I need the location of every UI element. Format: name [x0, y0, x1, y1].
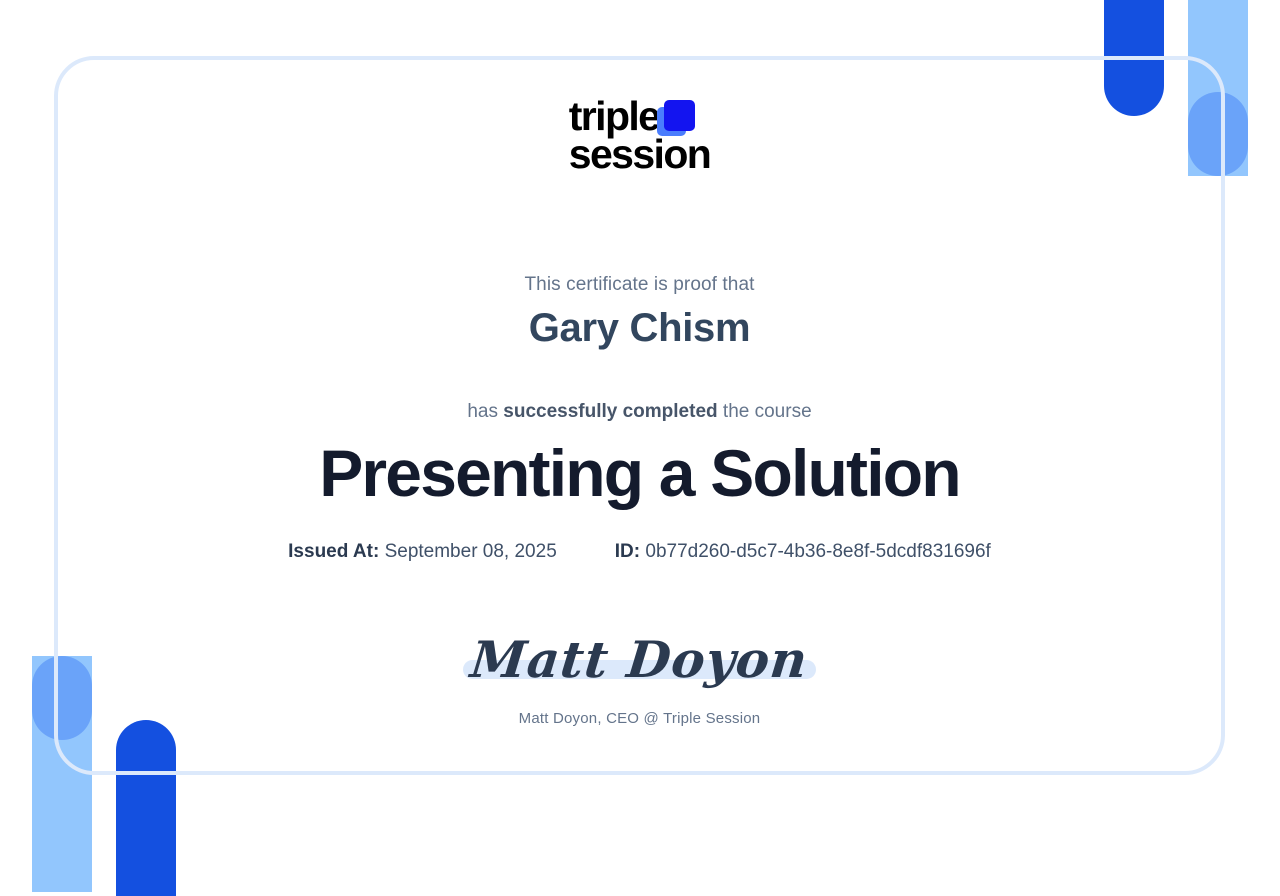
signature-name: Matt Doyon [460, 630, 819, 689]
recipient-name: Gary Chism [58, 306, 1221, 351]
certificate-id-field: ID: 0b77d260-d5c7-4b36-8e8f-5dcdf831696f [615, 541, 991, 563]
course-intro-suffix: the course [718, 401, 812, 422]
course-intro-prefix: has [467, 401, 503, 422]
brand-logo-line-two: session [569, 136, 711, 174]
signature-wrap: Matt Doyon [463, 630, 816, 689]
brand-logo: triple session [58, 98, 1221, 173]
certificate-meta-row: Issued At: September 08, 2025 ID: 0b77d2… [58, 541, 1221, 563]
issued-at-field: Issued At: September 08, 2025 [288, 541, 557, 563]
proof-statement: This certificate is proof that [58, 274, 1221, 296]
certificate-card: triple session This certificate is proof… [54, 56, 1225, 775]
course-intro-emphasis: successfully completed [503, 401, 717, 422]
issued-at-label: Issued At: [288, 541, 379, 562]
signature-caption: Matt Doyon, CEO @ Triple Session [58, 710, 1221, 727]
stacked-squares-icon [657, 100, 697, 136]
signature-block: Matt Doyon [58, 630, 1221, 689]
course-title: Presenting a Solution [58, 432, 1221, 515]
certificate-id-label: ID: [615, 541, 640, 562]
course-intro-line: has successfully completed the course [58, 401, 1221, 423]
issued-at-value: September 08, 2025 [385, 541, 557, 562]
certificate-id-value: 0b77d260-d5c7-4b36-8e8f-5dcdf831696f [645, 541, 990, 562]
